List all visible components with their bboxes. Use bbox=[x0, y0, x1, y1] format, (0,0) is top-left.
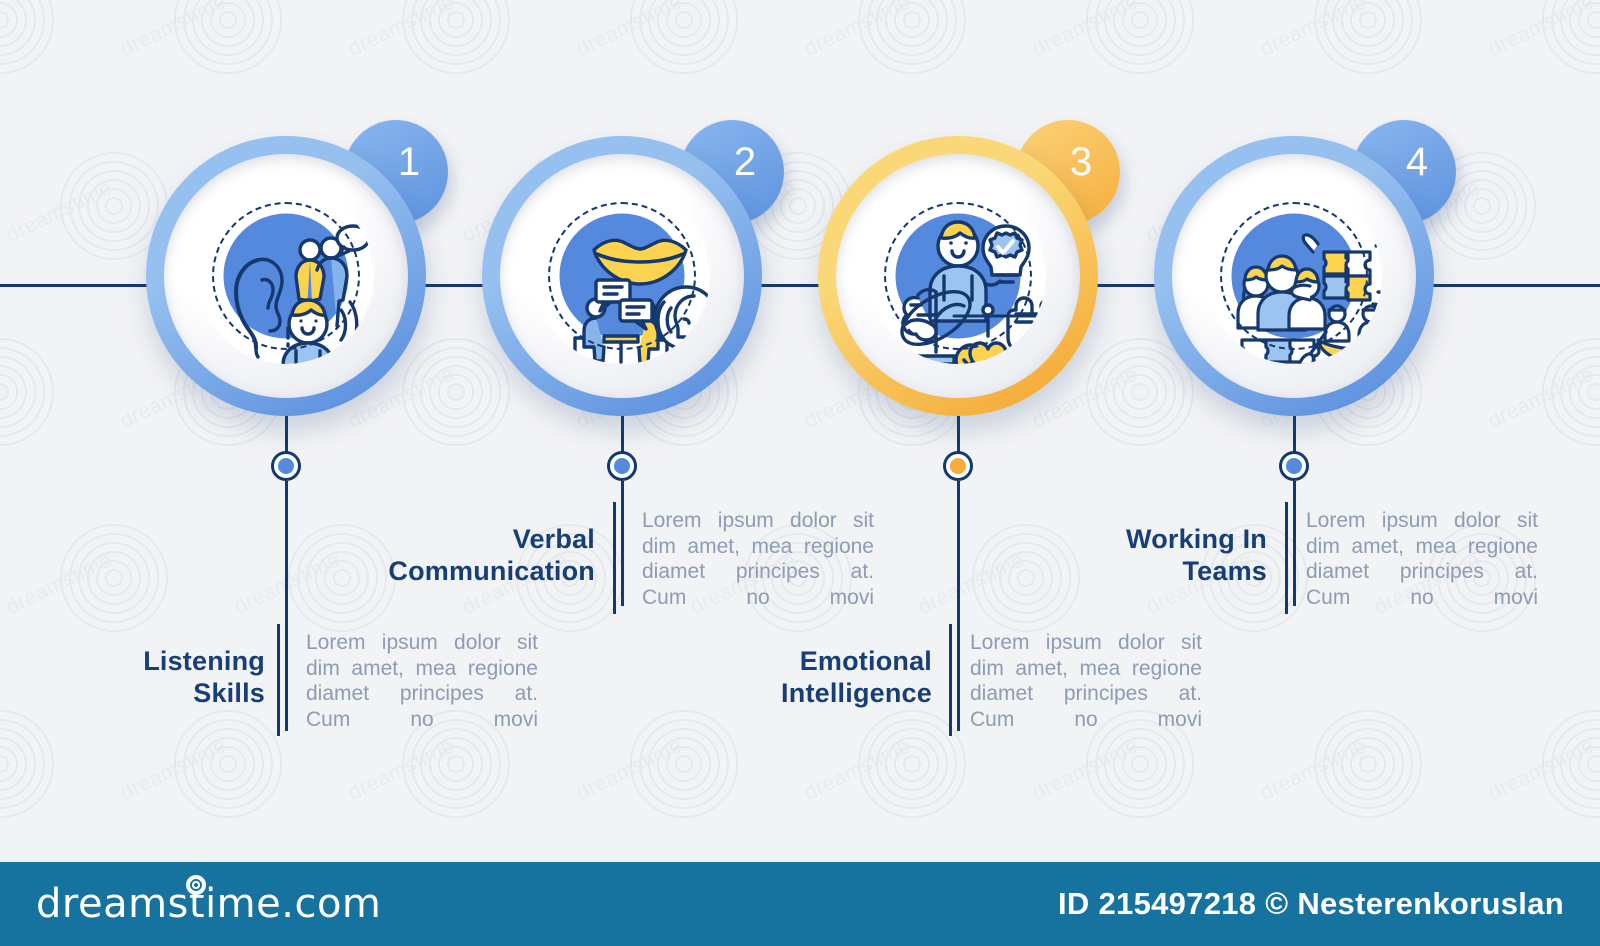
timeline-marker-1[interactable] bbox=[271, 451, 301, 481]
ring-inner-4 bbox=[1172, 154, 1416, 398]
step-title-3: EmotionalIntelligence bbox=[720, 646, 932, 709]
text-divider-2 bbox=[613, 502, 616, 614]
step-circle-1[interactable]: 1 bbox=[146, 136, 426, 416]
ring-core-2 bbox=[534, 188, 710, 364]
dashed-ring-2 bbox=[548, 202, 696, 350]
marker-dot-1 bbox=[278, 458, 294, 474]
text-divider-1 bbox=[277, 624, 280, 736]
step-circle-4[interactable]: 4 bbox=[1154, 136, 1434, 416]
step-body-1: Lorem ipsum dolor sit dim amet, mea regi… bbox=[306, 630, 538, 732]
step-body-3: Lorem ipsum dolor sit dim amet, mea regi… bbox=[970, 630, 1202, 732]
image-credit: ID 215497218 © Nesterenkoruslan bbox=[1058, 886, 1564, 922]
ring-inner-1 bbox=[164, 154, 408, 398]
step-ring-2 bbox=[482, 136, 762, 416]
spiral-mark-icon bbox=[186, 875, 206, 895]
footer-watermark-bar: dreamstime.com ID 215497218 © Nesterenko… bbox=[0, 862, 1600, 946]
timeline-marker-2[interactable] bbox=[607, 451, 637, 481]
step-body-4: Lorem ipsum dolor sit dim amet, mea regi… bbox=[1306, 508, 1538, 610]
dreamstime-logo: dreamstime.com bbox=[36, 881, 381, 927]
ring-core-4 bbox=[1206, 188, 1382, 364]
step-title-1: ListeningSkills bbox=[60, 646, 265, 709]
step-ring-4 bbox=[1154, 136, 1434, 416]
step-circle-3[interactable]: 3 bbox=[818, 136, 1098, 416]
stem-2-lower bbox=[621, 481, 624, 606]
marker-dot-2 bbox=[614, 458, 630, 474]
text-divider-3 bbox=[949, 624, 952, 736]
marker-dot-4 bbox=[1286, 458, 1302, 474]
stem-3-lower bbox=[957, 481, 960, 731]
ring-inner-2 bbox=[500, 154, 744, 398]
dreamstime-logo-text: dreamstime.com bbox=[36, 881, 381, 927]
step-ring-1 bbox=[146, 136, 426, 416]
stem-4-lower bbox=[1293, 481, 1296, 606]
step-title-2: VerbalCommunication bbox=[330, 524, 595, 587]
timeline-marker-4[interactable] bbox=[1279, 451, 1309, 481]
step-body-2: Lorem ipsum dolor sit dim amet, mea regi… bbox=[642, 508, 874, 610]
timeline-marker-3[interactable] bbox=[943, 451, 973, 481]
dashed-ring-3 bbox=[884, 202, 1032, 350]
step-circle-2[interactable]: 2 bbox=[482, 136, 762, 416]
text-divider-4 bbox=[1285, 502, 1288, 614]
ring-core-1 bbox=[198, 188, 374, 364]
infographic-stage: 1 bbox=[0, 0, 1600, 946]
stem-1-lower bbox=[285, 481, 288, 731]
ring-inner-3 bbox=[836, 154, 1080, 398]
dashed-ring-4 bbox=[1220, 202, 1368, 350]
step-title-4: Working InTeams bbox=[1060, 524, 1267, 587]
dashed-ring-1 bbox=[212, 202, 360, 350]
marker-dot-3 bbox=[950, 458, 966, 474]
step-ring-3 bbox=[818, 136, 1098, 416]
ring-core-3 bbox=[870, 188, 1046, 364]
